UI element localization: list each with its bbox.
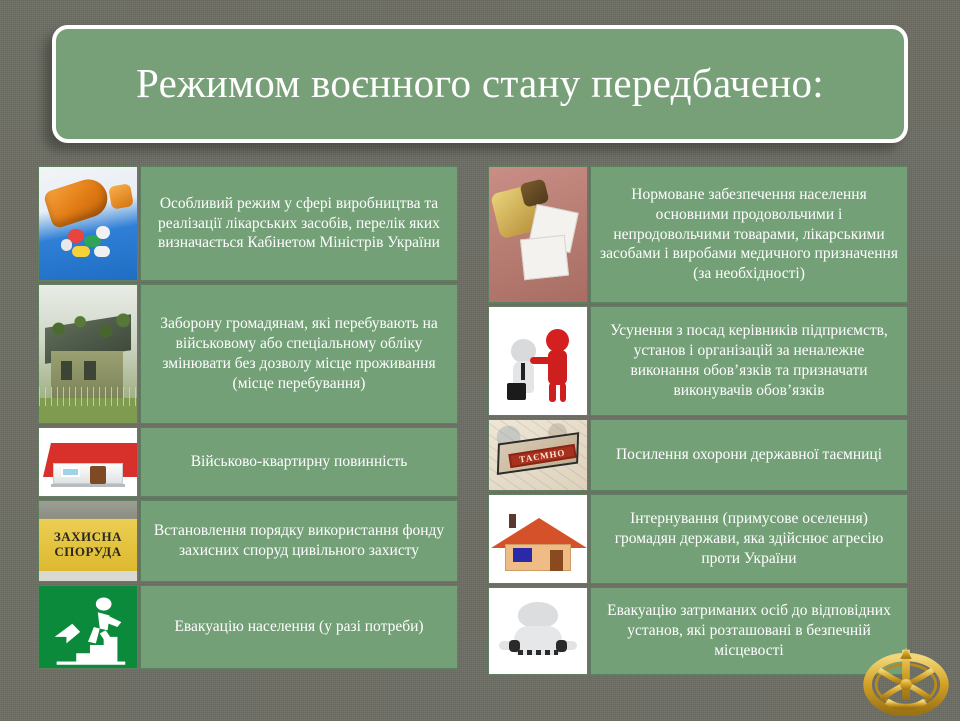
list-item[interactable]: Інтернування (примусове оселення) громад… bbox=[488, 494, 908, 584]
list-item-label: Усунення з посад керівників підприємств,… bbox=[590, 306, 908, 416]
list-item-label: Військово-квартирну повинність bbox=[140, 427, 458, 497]
list-item[interactable]: Заборону громадянам, які перебувають на … bbox=[38, 284, 458, 424]
list-item[interactable]: Усунення з посад керівників підприємств,… bbox=[488, 306, 908, 416]
sign-line-2: СПОРУДА bbox=[54, 545, 121, 560]
sign-line-1: ЗАХИСНА bbox=[54, 530, 122, 545]
list-item-label: Посилення охорони державної таємниці bbox=[590, 419, 908, 491]
list-item[interactable]: ЗАХИСНА СПОРУДА Встановлення порядку вик… bbox=[38, 500, 458, 582]
running-man-stairs-glyph bbox=[39, 586, 137, 668]
orange-house-icon bbox=[488, 494, 588, 584]
slide-title-box: Режимом воєнного стану передбачено: bbox=[52, 25, 908, 143]
protective-structure-sign-icon: ЗАХИСНА СПОРУДА bbox=[38, 500, 138, 582]
list-item[interactable]: Евакуацію затриманих осіб до відповідних… bbox=[488, 587, 908, 675]
handcuffed-figure-icon bbox=[488, 587, 588, 675]
dismissal-figures-icon bbox=[488, 306, 588, 416]
left-column: Особливий режим у сфері виробництва та р… bbox=[38, 166, 458, 672]
list-item[interactable]: ТАЄМНО Посилення охорони державної таємн… bbox=[488, 419, 908, 491]
list-item-label: Евакуацію населення (у разі потреби) bbox=[140, 585, 458, 669]
emergency-exit-icon bbox=[38, 585, 138, 669]
right-column: Нормоване забезпечення населення основни… bbox=[488, 166, 908, 678]
list-item[interactable]: Нормоване забезпечення населення основни… bbox=[488, 166, 908, 303]
gold-ornamental-emblem-icon bbox=[858, 646, 954, 716]
old-house-icon bbox=[38, 284, 138, 424]
list-item-label: Встановлення порядку використання фонду … bbox=[140, 500, 458, 582]
list-item-label: Нормоване забезпечення населення основни… bbox=[590, 166, 908, 303]
list-item-label: Особливий режим у сфері виробництва та р… bbox=[140, 166, 458, 281]
list-item-label: Заборону громадянам, які перебувають на … bbox=[140, 284, 458, 424]
pill-bottle-icon bbox=[38, 166, 138, 281]
list-item[interactable]: Евакуацію населення (у разі потреби) bbox=[38, 585, 458, 669]
medicine-jar-icon bbox=[488, 166, 588, 303]
white-house-red-roof-icon bbox=[38, 427, 138, 497]
secret-stamp-icon: ТАЄМНО bbox=[488, 419, 588, 491]
list-item-label: Інтернування (примусове оселення) громад… bbox=[590, 494, 908, 584]
page-title: Режимом воєнного стану передбачено: bbox=[122, 61, 838, 107]
list-item[interactable]: Особливий режим у сфері виробництва та р… bbox=[38, 166, 458, 281]
list-item[interactable]: Військово-квартирну повинність bbox=[38, 427, 458, 497]
